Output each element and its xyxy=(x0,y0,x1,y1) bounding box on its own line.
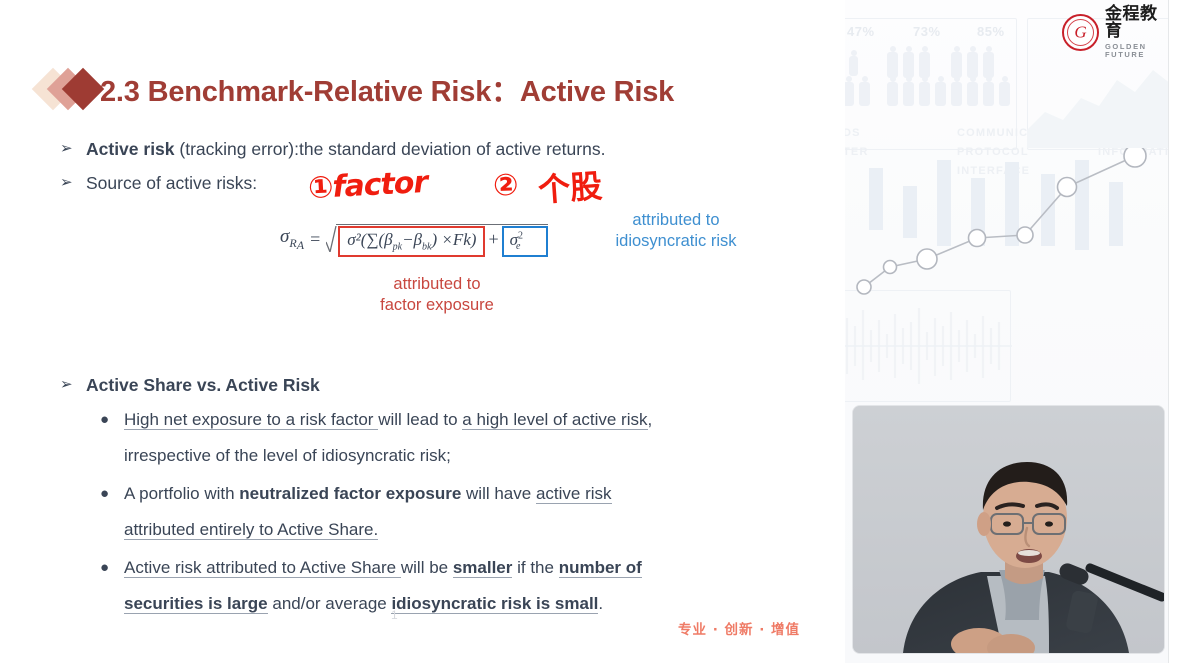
formula-row: σRA = σ²(∑(βpk−βbk) ×Fk)+σ2e xyxy=(280,222,548,257)
bullet-active-share-vs-active-risk: ➢ Active Share vs. Active Risk xyxy=(60,372,820,398)
sub-text-d: , xyxy=(648,410,653,429)
bg-person xyxy=(983,52,994,78)
idio-sup: 2 xyxy=(518,230,523,241)
arrow-bullet-icon: ➢ xyxy=(60,170,86,196)
instructor-webcam-video[interactable] xyxy=(853,406,1164,653)
slide-canvas: 47% 73% 85% DS TER COMMUNICATION PROTOCO… xyxy=(0,0,1179,663)
idio-sub: e xyxy=(516,241,520,252)
bg-person xyxy=(887,52,898,78)
bg-person xyxy=(919,82,930,106)
sub-text-underline-c: a high level of active risk xyxy=(462,410,647,430)
bg-person xyxy=(967,52,978,78)
arrow-bullet-icon: ➢ xyxy=(60,372,86,398)
bg-percent-1: 73% xyxy=(913,24,941,39)
bg-person xyxy=(935,82,946,106)
sub-text-bold: neutralized factor exposure xyxy=(239,484,461,503)
diamond-bullet-icon xyxy=(38,66,100,112)
arrow-bullet-icon: ➢ xyxy=(60,136,86,162)
bullet-text: Active Share vs. Active Risk xyxy=(86,372,320,398)
bullet-text: Source of active risks: xyxy=(86,170,257,196)
bg-line-chart xyxy=(845,130,1168,330)
bullet-bold-lead: Active risk xyxy=(86,139,175,159)
lhs-sub: R xyxy=(289,236,296,250)
logo-text-block: 金程教育 GOLDEN FUTURE xyxy=(1105,6,1174,58)
sub-text-b: will be xyxy=(401,558,453,577)
sub-text-line2: attributed entirely to Active Share. xyxy=(124,520,378,540)
bg-percent-0: 47% xyxy=(847,24,875,39)
risk-formula: σRA = σ²(∑(βpk−βbk) ×Fk)+σ2e attributed … xyxy=(280,222,548,257)
bg-person xyxy=(849,56,858,76)
logo-monogram: G xyxy=(1064,24,1097,41)
bullet-active-risk-definition: ➢ Active risk (tracking error):the stand… xyxy=(60,136,820,162)
bg-person xyxy=(951,82,962,106)
caption-blue-line2: idiosyncratic risk xyxy=(596,231,756,252)
caption-factor-exposure: attributed to factor exposure xyxy=(352,274,522,316)
right-edge-divider xyxy=(1168,0,1169,663)
bullet-rest: (tracking error):the standard deviation … xyxy=(175,139,606,159)
bg-person xyxy=(903,82,914,106)
sub-text-b: will have xyxy=(461,484,536,503)
lhs-sigma: σ xyxy=(280,226,289,247)
sub-bullet-active-risk-smaller: ● Active risk attributed to Active Share… xyxy=(100,550,820,622)
radical-tick-icon xyxy=(326,226,337,252)
idiosyncratic-term: σ2e xyxy=(502,226,549,257)
radical-vinculum xyxy=(336,224,548,225)
caption-idiosyncratic-risk: attributed to idiosyncratic risk xyxy=(596,210,756,252)
sub-text-c: if the xyxy=(512,558,558,577)
sub-text-bold-securities: securities is large xyxy=(124,594,268,614)
sub-text-b: will lead to xyxy=(378,410,462,429)
brand-logo: G 金程教育 GOLDEN FUTURE xyxy=(1062,14,1174,50)
formula-radical: σ²(∑(βpk−βbk) ×Fk)+σ2e xyxy=(326,222,548,257)
sub-bullet-neutralized-factor-exposure: ● A portfolio with neutralized factor ex… xyxy=(100,476,820,548)
webcam-frame xyxy=(853,406,1164,653)
caption-blue-line1: attributed to xyxy=(596,210,756,231)
sub-text-bold-smaller: smaller xyxy=(453,558,513,578)
factor-term-end: ) ×Fk) xyxy=(431,230,476,249)
dot-bullet-icon: ● xyxy=(100,550,124,586)
page-number: 1 xyxy=(391,608,398,622)
sub-text-underline-a: Active risk attributed to Active Share xyxy=(124,558,401,578)
factor-sub-pk: pk xyxy=(393,241,402,252)
caption-red-line2: factor exposure xyxy=(352,295,522,316)
bg-person xyxy=(983,82,994,106)
factor-exposure-term: σ²(∑(βpk−βbk) ×Fk) xyxy=(338,226,485,257)
sub-text-line2-b: . xyxy=(598,594,603,613)
sub-text-bold-idiosyncratic: idiosyncratic risk is small xyxy=(391,594,598,614)
bg-person xyxy=(999,82,1010,106)
bg-percent-2: 85% xyxy=(977,24,1005,39)
dot-bullet-icon: ● xyxy=(100,402,124,438)
sub-text-line2: irrespective of the level of idiosyncrat… xyxy=(124,446,451,465)
bg-person xyxy=(903,52,914,78)
logo-chinese-name: 金程教育 xyxy=(1105,6,1174,40)
factor-term-start: σ²(∑(β xyxy=(347,230,392,249)
bullet-source-of-active-risks: ➢ Source of active risks: xyxy=(60,170,820,196)
bg-person xyxy=(967,82,978,106)
dot-bullet-icon: ● xyxy=(100,476,124,512)
sub-bullet-text: A portfolio with neutralized factor expo… xyxy=(124,476,612,548)
logo-seal-icon: G xyxy=(1062,14,1099,51)
bg-person xyxy=(951,52,962,78)
sub-bullet-text: Active risk attributed to Active Share w… xyxy=(124,550,642,622)
bg-person xyxy=(887,82,898,106)
bg-person xyxy=(919,52,930,78)
formula-equals: = xyxy=(310,229,320,250)
sub-text-underline-c: active risk xyxy=(536,484,612,504)
bg-person xyxy=(859,82,870,106)
slide-title-row: 2.3 Benchmark-Relative Risk：Active Risk xyxy=(38,66,674,112)
sub-text-underline-a: High net exposure to a risk factor xyxy=(124,410,378,430)
bg-person xyxy=(845,82,854,106)
footer-slogan: 专业 · 创新 · 增值 xyxy=(678,618,800,638)
caption-red-line1: attributed to xyxy=(352,274,522,295)
sub-text-line2-a: and/or average xyxy=(268,594,392,613)
sub-bullet-text: High net exposure to a risk factor will … xyxy=(124,402,652,474)
sub-bullet-high-net-exposure: ● High net exposure to a risk factor wil… xyxy=(100,402,820,474)
page-title: 2.3 Benchmark-Relative Risk：Active Risk xyxy=(100,68,674,110)
factor-term-mid: −β xyxy=(402,230,422,249)
sub-text-a: A portfolio with xyxy=(124,484,239,503)
logo-english-name: GOLDEN FUTURE xyxy=(1105,43,1174,58)
sub-text-bold-number-of: number of xyxy=(559,558,642,578)
formula-lhs: σRA xyxy=(280,226,304,253)
formula-plus: + xyxy=(488,229,498,249)
bullet-text: Active risk (tracking error):the standar… xyxy=(86,136,605,162)
lhs-sub-sub: A xyxy=(297,238,304,252)
